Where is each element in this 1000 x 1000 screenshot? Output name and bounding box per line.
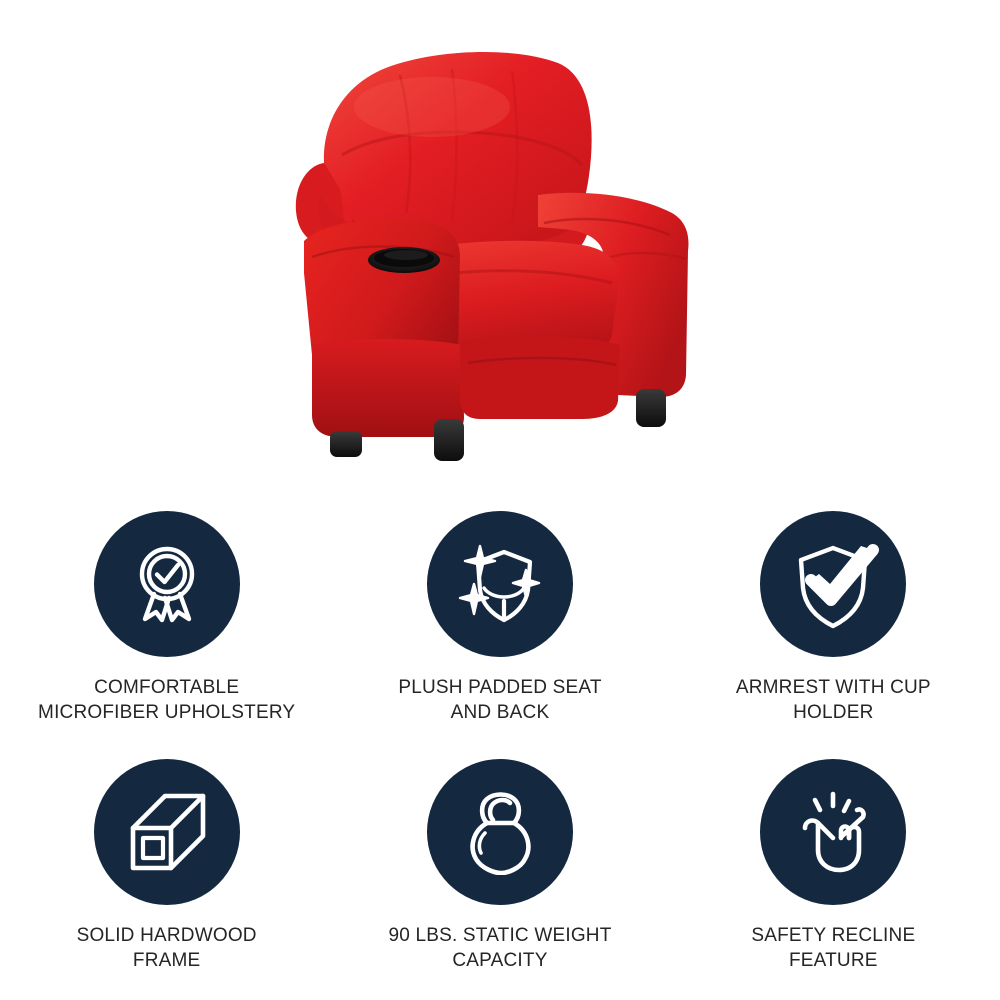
base [312, 336, 620, 437]
feature-item-safety-recline-feature: SAFETY RECLINE FEATURE [667, 753, 1000, 1000]
cup-holder [368, 247, 440, 273]
feature-badge [427, 511, 573, 657]
feature-badge [94, 759, 240, 905]
feature-badge [760, 759, 906, 905]
feature-label: SAFETY RECLINE FEATURE [751, 923, 915, 973]
feature-item-comfortable-microfiber-upholstery: COMFORTABLE MICROFIBER UPHOLSTERY [0, 505, 333, 753]
feature-label: 90 LBS. STATIC WEIGHT CAPACITY [388, 923, 611, 973]
feature-label: ARMREST WITH CUP HOLDER [736, 675, 931, 725]
tapping-hand-icon [789, 788, 877, 876]
feature-badge [760, 511, 906, 657]
kettlebell-icon [457, 789, 543, 875]
feature-label: SOLID HARDWOOD FRAME [77, 923, 257, 973]
feature-badge [427, 759, 573, 905]
feature-badge [94, 511, 240, 657]
feature-item-plush-padded-seat-and-back: PLUSH PADDED SEAT AND BACK [333, 505, 666, 753]
shield-check-icon [787, 538, 879, 630]
feature-item-armrest-with-cup-holder: ARMREST WITH CUP HOLDER [667, 505, 1000, 753]
feature-item-static-weight-capacity: 90 LBS. STATIC WEIGHT CAPACITY [333, 753, 666, 1000]
feature-label: PLUSH PADDED SEAT AND BACK [398, 675, 601, 725]
wood-beam-icon [123, 788, 211, 876]
feature-item-solid-hardwood-frame: SOLID HARDWOOD FRAME [0, 753, 333, 1000]
feature-grid: COMFORTABLE MICROFIBER UPHOLSTERY PLUSH … [0, 505, 1000, 1000]
sparkling-shield-icon [454, 538, 546, 630]
product-feature-infographic: COMFORTABLE MICROFIBER UPHOLSTERY PLUSH … [0, 0, 1000, 1000]
recliner-product-image [282, 45, 702, 475]
product-image-stage [0, 0, 1000, 500]
feature-label: COMFORTABLE MICROFIBER UPHOLSTERY [38, 675, 295, 725]
award-ribbon-icon [123, 540, 211, 628]
